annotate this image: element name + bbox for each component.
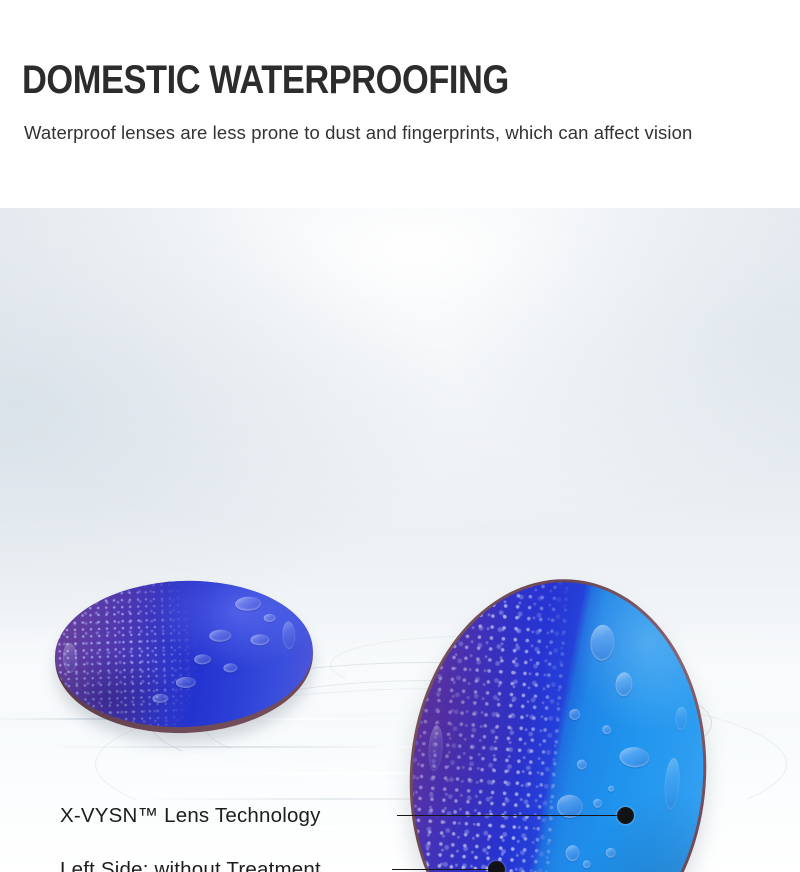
waterproofing-banner: DOMESTIC WATERPROOFING Waterproof lenses…	[0, 0, 800, 872]
header-section: DOMESTIC WATERPROOFING Waterproof lenses…	[0, 0, 800, 208]
callout-lens-technology: X-VYSN™ Lens Technology	[60, 804, 321, 828]
leader-line-without-treatment	[392, 869, 492, 870]
page-title: DOMESTIC WATERPROOFING	[22, 58, 670, 102]
callout-without-treatment: Left Side: without Treatment	[60, 858, 321, 872]
large-lens	[400, 572, 716, 872]
callout-marker-without-treatment	[488, 861, 505, 872]
leader-line-lens-technology	[397, 815, 619, 816]
small-lens	[52, 577, 315, 738]
page-subtitle: Waterproof lenses are less prone to dust…	[24, 118, 769, 148]
large-lens-face	[400, 572, 716, 872]
product-photo: X-VYSN™ Lens Technology Left Side: witho…	[0, 208, 800, 872]
callout-marker-lens-technology	[617, 807, 634, 824]
